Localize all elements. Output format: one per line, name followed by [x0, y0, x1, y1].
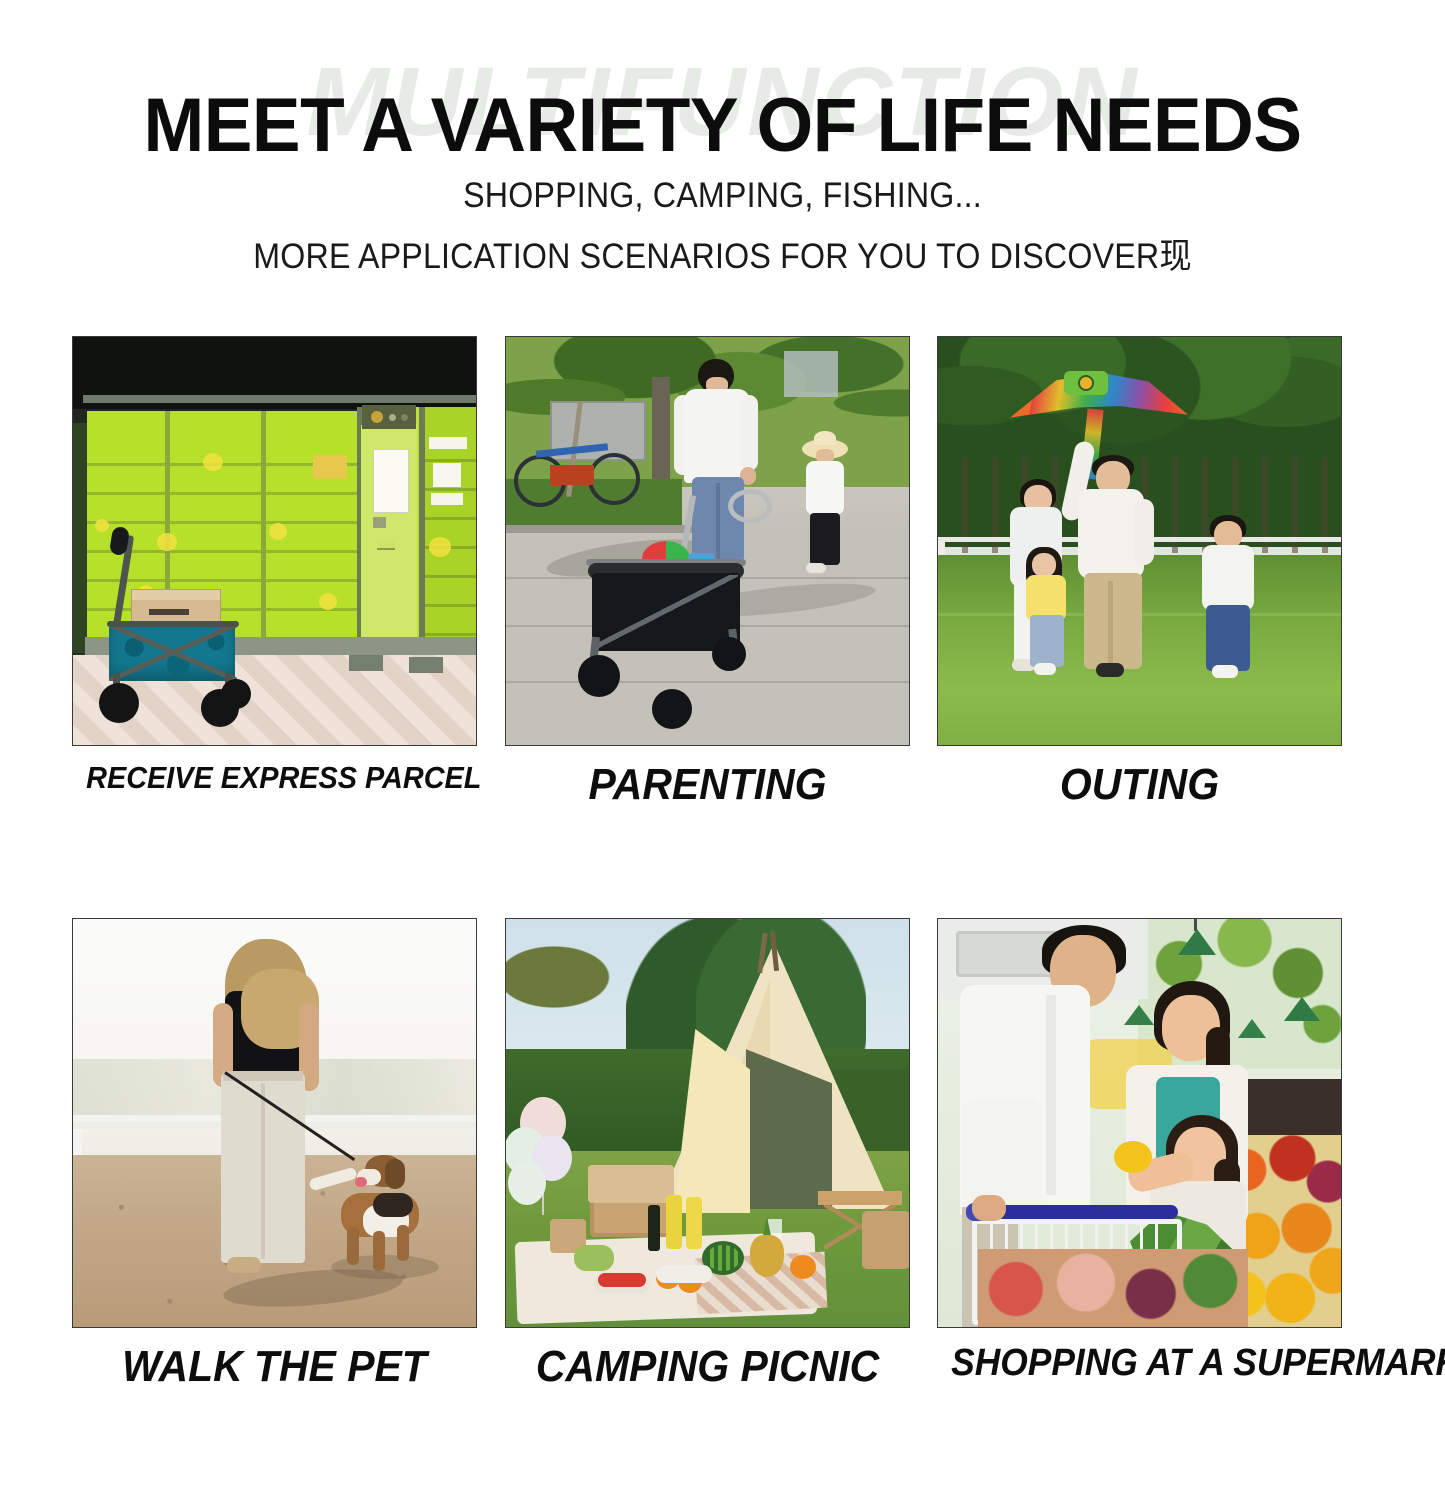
caption-walk-the-pet: WALK THE PET [86, 1342, 463, 1392]
scenario-grid: RECEIVE EXPRESS PARCEL [72, 336, 1373, 1500]
photo-shopping-at-a-supermarket[interactable] [937, 918, 1342, 1328]
dog-saddle-marking [373, 1193, 413, 1217]
background-building [784, 351, 838, 397]
dog-ear [385, 1159, 405, 1189]
locker-foot-2 [409, 657, 443, 673]
photo-walk-the-pet[interactable] [72, 918, 477, 1328]
wagon-cross-brace-2 [109, 625, 237, 681]
wagon-pull-ring [728, 489, 772, 523]
caption-outing: OUTING [951, 760, 1328, 810]
camp-side-table-top [818, 1191, 902, 1205]
kite-eye [1078, 375, 1094, 391]
photo-receive-express-parcel[interactable] [72, 336, 477, 746]
girl-shoe [1034, 663, 1056, 675]
boy-polo-shirt [1202, 545, 1254, 611]
caption-shopping-at-a-supermarket: SHOPPING AT A SUPERMARKET [951, 1342, 1328, 1385]
dog-leg-1 [347, 1227, 359, 1265]
locker-notice-2 [433, 463, 461, 487]
pineapple [750, 1235, 784, 1277]
strawberries [598, 1273, 646, 1287]
woman-shoe [227, 1257, 261, 1273]
terminal-screen[interactable] [373, 449, 409, 513]
boy-shorts [1206, 605, 1250, 671]
paver-seam-3 [506, 681, 909, 683]
scenario-card-outing[interactable]: OUTING [937, 336, 1342, 746]
child-straw-hat-crown [814, 431, 836, 445]
girl-face [1032, 553, 1056, 577]
terminal-slot [377, 541, 395, 550]
locker-sticker-5 [319, 593, 337, 610]
wagon-wheel-1 [99, 683, 139, 723]
champagne-bottle [648, 1205, 660, 1251]
boy-shoe [1212, 665, 1238, 678]
scenario-row-1: RECEIVE EXPRESS PARCEL [72, 336, 1373, 918]
scenario-card-parenting[interactable]: PARENTING [505, 336, 910, 746]
caption-parenting: PARENTING [519, 760, 896, 810]
green-grapes [574, 1245, 614, 1271]
tree-trunk-1 [652, 377, 670, 495]
foreground-produce [978, 1249, 1248, 1328]
picnic-hamper-lid [588, 1165, 674, 1203]
wagon-top-rail [107, 621, 239, 627]
scenario-card-shopping-at-a-supermarket[interactable]: SHOPPING AT A SUPERMARKET [937, 918, 1342, 1328]
subtitle-line-1: SHOPPING, CAMPING, FISHING... [58, 176, 1387, 216]
wagon-frame-brace [594, 575, 738, 649]
parent-leg-seam [716, 483, 720, 563]
lemonade-bottle-1 [666, 1195, 682, 1249]
orange-1 [790, 1255, 816, 1279]
father-leg-seam [1108, 581, 1113, 669]
child-shirt [806, 461, 844, 515]
scenario-card-camping-picnic[interactable]: CAMPING PICNIC [505, 918, 910, 1328]
dog-tongue [355, 1177, 367, 1187]
parent-arm-right [740, 395, 758, 471]
scenario-card-walk-the-pet[interactable]: WALK THE PET [72, 918, 477, 1328]
photo-outing[interactable] [937, 336, 1342, 746]
wagon-wheel-rear [712, 637, 746, 671]
page-title: MEET A VARIETY OF LIFE NEEDS [29, 82, 1416, 169]
dog-leg-2 [373, 1231, 385, 1271]
wagon-wheel-3 [221, 679, 251, 709]
fruit-plate [656, 1265, 712, 1283]
terminal-light-1 [389, 414, 396, 421]
orange-fruit-in-hand [1114, 1141, 1152, 1173]
locker-sticker-1 [203, 453, 223, 471]
photo-camping-picnic[interactable] [505, 918, 910, 1328]
father-shoe [1096, 663, 1124, 677]
locker-seam-4 [419, 407, 425, 665]
wagon-wheel-front-left [578, 655, 620, 697]
terminal-keypad[interactable] [373, 517, 386, 528]
bicycle-wheel-front [588, 453, 640, 505]
caption-receive-express-parcel: RECEIVE EXPRESS PARCEL [86, 760, 463, 796]
watermelon-stripes [706, 1245, 740, 1271]
locker-warning-sign [313, 455, 347, 479]
father-shirt-placket [1046, 995, 1056, 1195]
pendant-lamp-cord [1194, 919, 1197, 931]
child-trousers [810, 513, 840, 565]
caption-camping-picnic: CAMPING PICNIC [519, 1342, 896, 1392]
terminal-light-amber [371, 411, 383, 423]
woman-jeans-seam [261, 1083, 265, 1259]
photo-parenting[interactable] [505, 336, 910, 746]
locker-roof-trim [83, 395, 477, 403]
locker-sticker-6 [429, 537, 451, 557]
locker-notice-1 [429, 437, 467, 449]
father-arm-right [1134, 499, 1154, 565]
parcel-label [149, 609, 189, 615]
subtitle-line-2: MORE APPLICATION SCENARIOS FOR YOU TO DI… [58, 228, 1387, 279]
locker-sticker-3 [157, 533, 177, 551]
girl-jeans [1030, 615, 1064, 667]
terminal-light-2 [401, 414, 408, 421]
page-header: MULTIFUNCTION MEET A VARIETY OF LIFE NEE… [0, 0, 1445, 300]
wicker-basket-right [862, 1211, 910, 1269]
bicycle-pannier [550, 465, 594, 485]
father-arm [962, 1099, 1042, 1211]
wagon-wheel-front-right [652, 689, 692, 729]
scenario-row-2: WALK THE PET [72, 918, 1373, 1500]
locker-sticker-4 [269, 523, 287, 540]
camp-tree-left [506, 937, 626, 1017]
locker-foot-1 [349, 655, 383, 671]
lemonade-bottle-2 [686, 1197, 702, 1249]
father-khaki-trousers [1084, 573, 1142, 669]
balloon-white [508, 1161, 546, 1205]
father-hand-on-handle [972, 1195, 1006, 1221]
locker-seam-2 [261, 411, 266, 657]
produce-shelf-unit [1238, 1079, 1342, 1143]
locker-sticker-2 [95, 519, 109, 532]
scenario-card-receive-express-parcel[interactable]: RECEIVE EXPRESS PARCEL [72, 336, 477, 746]
child-shoe [806, 563, 826, 573]
dog-leg-3 [397, 1225, 409, 1261]
locker-notice-3 [431, 493, 463, 505]
